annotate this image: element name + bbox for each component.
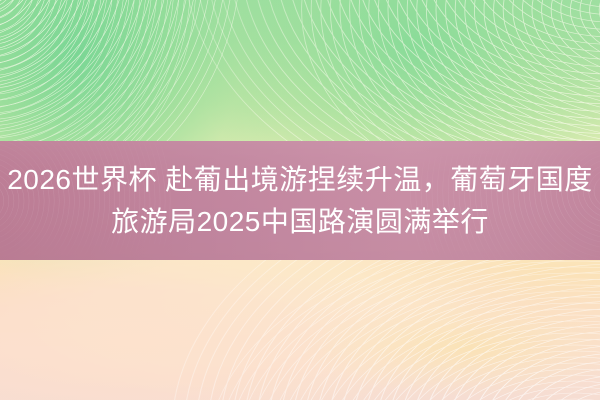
banner-image: 2026世界杯 赴葡出境游捏续升温，葡萄牙国度 旅游局2025中国路演圆满举行: [0, 0, 600, 400]
headline-line-2: 旅游局2025中国路演圆满举行: [111, 202, 489, 242]
headline-band: 2026世界杯 赴葡出境游捏续升温，葡萄牙国度 旅游局2025中国路演圆满举行: [0, 141, 600, 260]
headline-line-1: 2026世界杯 赴葡出境游捏续升温，葡萄牙国度: [7, 160, 593, 200]
headline-text: 2026世界杯 赴葡出境游捏续升温，葡萄牙国度 旅游局2025中国路演圆满举行: [0, 141, 600, 260]
